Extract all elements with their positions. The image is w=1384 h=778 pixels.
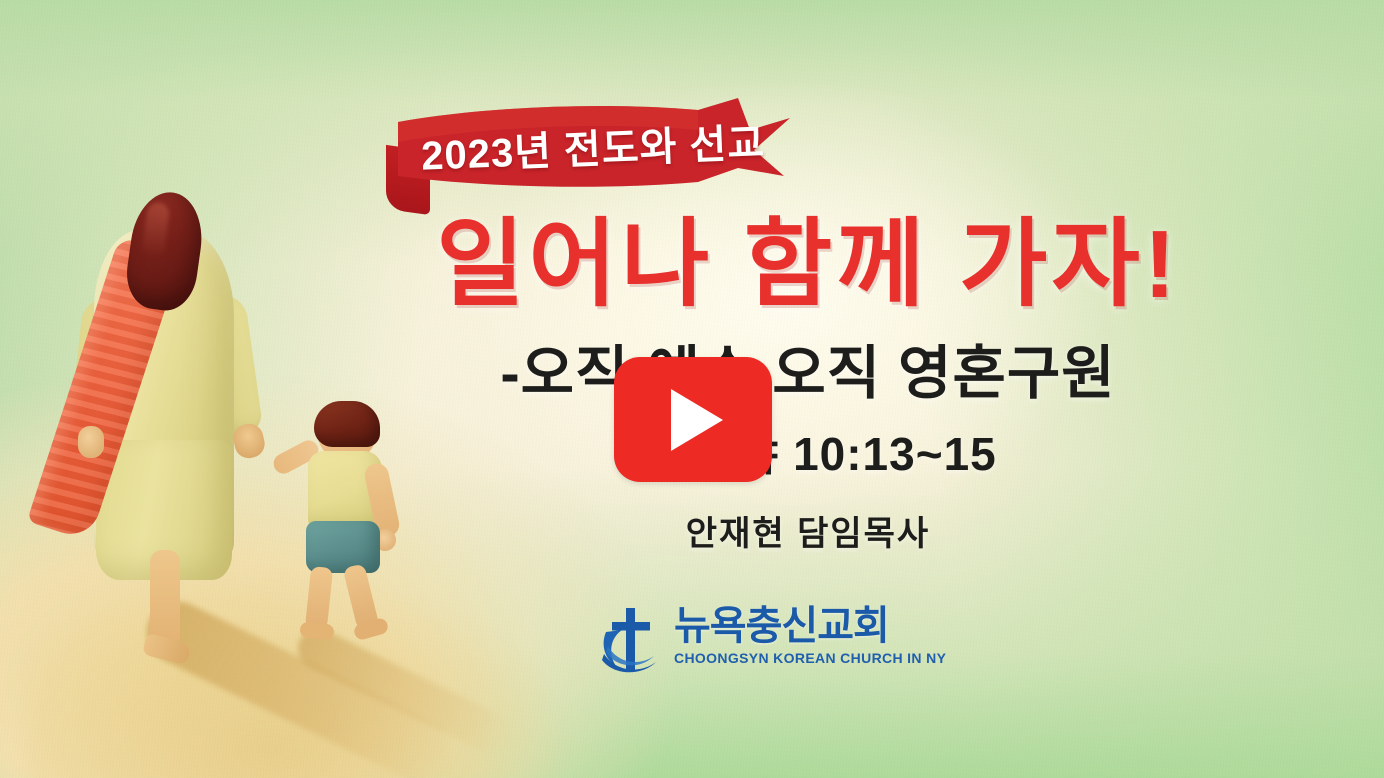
cross-and-wave-icon bbox=[598, 604, 664, 676]
child-shorts bbox=[306, 521, 380, 573]
child-hair bbox=[314, 401, 380, 447]
child-left-foot bbox=[299, 621, 334, 640]
church-logo: 뉴욕충신교회 CHOONGSYN KOREAN CHURCH IN NY bbox=[598, 604, 950, 682]
play-triangle-icon bbox=[671, 389, 723, 451]
speaker-name: 안재현 담임목사 bbox=[398, 506, 1218, 555]
adult-figure bbox=[58, 190, 288, 670]
ribbon-label: 2023년 전도와 선교 bbox=[397, 97, 790, 196]
church-logo-text: 뉴욕충신교회 CHOONGSYN KOREAN CHURCH IN NY bbox=[674, 604, 946, 666]
church-name-english: CHOONGSYN KOREAN CHURCH IN NY bbox=[674, 650, 946, 666]
adult-left-hand bbox=[78, 426, 104, 458]
adult-hair-highlight bbox=[141, 201, 171, 260]
child-left-leg bbox=[305, 566, 333, 630]
adult-leg bbox=[150, 550, 180, 646]
ribbon-banner: 2023년 전도와 선교 bbox=[386, 92, 816, 212]
headline-block: 일어나 함께 가자! -오직 예수 오직 영혼구원 - 오바댜 10:13~15… bbox=[398, 214, 1218, 555]
adult-foot bbox=[142, 633, 192, 665]
scripture-reference: - 오바댜 10:13~15 bbox=[398, 418, 1218, 484]
play-button[interactable] bbox=[614, 357, 772, 482]
sermon-title: 일어나 함께 가자! bbox=[398, 214, 1218, 316]
video-thumbnail: adult-and-child-walking-illustration bbox=[0, 0, 1384, 778]
ribbon-body: 2023년 전도와 선교 bbox=[398, 104, 808, 188]
illustration-description: adult-and-child-walking-illustration bbox=[0, 190, 1, 191]
sermon-subtitle: -오직 예수 오직 영혼구원 bbox=[398, 326, 1218, 410]
church-name-korean: 뉴욕충신교회 bbox=[674, 606, 889, 646]
